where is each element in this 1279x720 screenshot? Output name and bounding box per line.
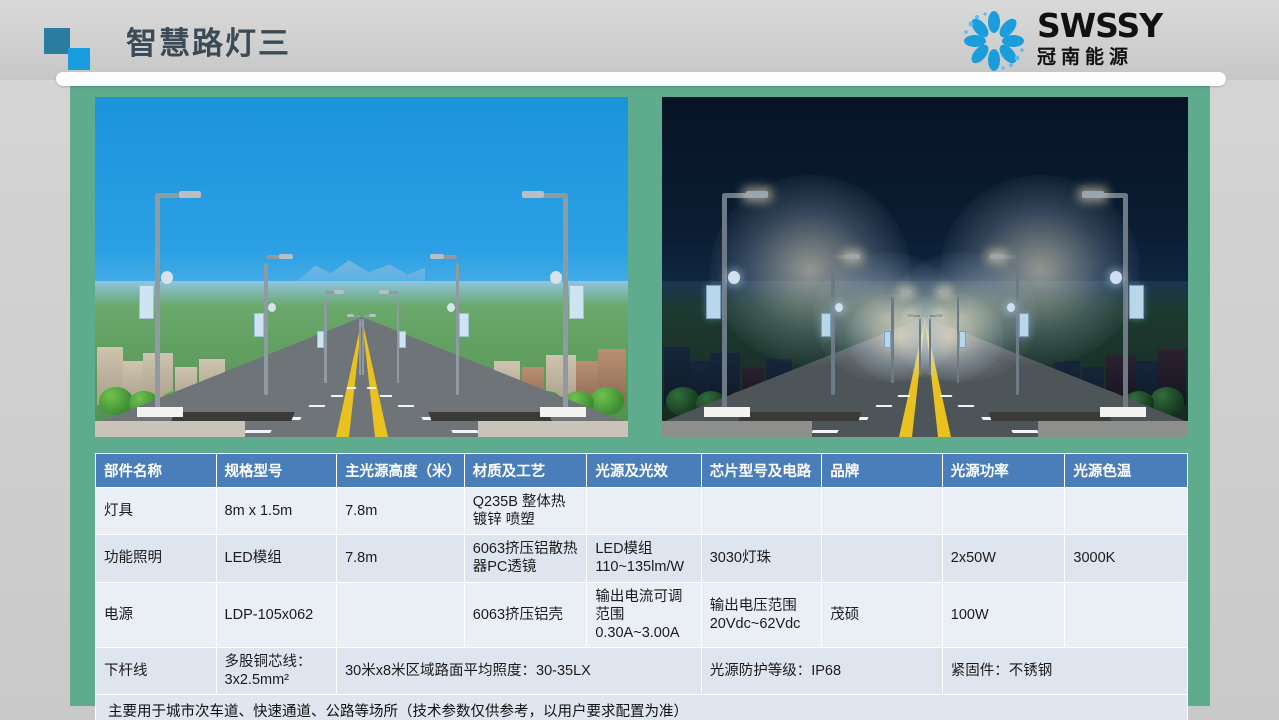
cell-illuminance-merged: 30米x8米区域路面平均照度：30-35LX: [337, 647, 702, 694]
cell-material: Q235B 整体热镀锌 喷塑: [464, 488, 587, 535]
cell-power: [942, 488, 1065, 535]
spec-table-container: 部件名称 规格型号 主光源高度（米） 材质及工艺 光源及光效 芯片型号及电路 品…: [95, 453, 1188, 687]
cell-source-efficacy: [587, 488, 701, 535]
column-header-power: 光源功率: [942, 454, 1065, 488]
column-header-chip-circuit: 芯片型号及电路: [701, 454, 822, 488]
table-row: 功能照明 LED模组 7.8m 6063挤压铝散热器PC透镜 LED模组 110…: [96, 535, 1188, 582]
cell-light-height: [337, 582, 465, 647]
cell-power: 100W: [942, 582, 1065, 647]
cell-model: LDP-105x062: [216, 582, 337, 647]
cell-light-height: 7.8m: [337, 488, 465, 535]
table-note: 主要用于城市次车道、快速通道、公路等场所（技术参数仅供参考，以用户要求配置为准）: [96, 695, 1188, 720]
square-dark-icon: [44, 28, 70, 54]
cell-power: 2x50W: [942, 535, 1065, 582]
column-header-source-efficacy: 光源及光效: [587, 454, 701, 488]
cell-component-name: 下杆线: [96, 647, 217, 694]
page-title: 智慧路灯三: [126, 24, 291, 64]
spec-table: 部件名称 规格型号 主光源高度（米） 材质及工艺 光源及光效 芯片型号及电路 品…: [95, 453, 1188, 720]
table-row: 灯具 8m x 1.5m 7.8m Q235B 整体热镀锌 喷塑: [96, 488, 1188, 535]
cell-light-height: 7.8m: [337, 535, 465, 582]
column-header-model: 规格型号: [216, 454, 337, 488]
cell-ip-rating-merged: 光源防护等级：IP68: [701, 647, 942, 694]
table-row: 电源 LDP-105x062 6063挤压铝壳 输出电流可调范围0.30A~3.…: [96, 582, 1188, 647]
cell-source-efficacy: 输出电流可调范围0.30A~3.00A: [587, 582, 701, 647]
cell-color-temp: [1065, 488, 1188, 535]
cell-source-efficacy: LED模组 110~135lm/W: [587, 535, 701, 582]
content-panel: 部件名称 规格型号 主光源高度（米） 材质及工艺 光源及光效 芯片型号及电路 品…: [70, 80, 1210, 706]
table-header-row: 部件名称 规格型号 主光源高度（米） 材质及工艺 光源及光效 芯片型号及电路 品…: [96, 454, 1188, 488]
column-header-material: 材质及工艺: [464, 454, 587, 488]
square-light-icon: [68, 48, 90, 70]
cell-model: 8m x 1.5m: [216, 488, 337, 535]
column-header-color-temp: 光源色温: [1065, 454, 1188, 488]
daytime-streetlight-image: [95, 97, 628, 437]
cell-chip-circuit: 输出电压范围20Vdc~62Vdc: [701, 582, 822, 647]
cell-component-name: 灯具: [96, 488, 217, 535]
table-row: 下杆线 多股铜芯线：3x2.5mm² 30米x8米区域路面平均照度：30-35L…: [96, 647, 1188, 694]
column-header-brand: 品牌: [822, 454, 943, 488]
cell-model: 多股铜芯线：3x2.5mm²: [216, 647, 337, 694]
cell-brand: 茂硕: [822, 582, 943, 647]
cell-brand: [822, 488, 943, 535]
water-droplet-flower-icon: [961, 10, 1027, 72]
logo-sub-text: 冠南能源: [1037, 46, 1162, 70]
cell-component-name: 功能照明: [96, 535, 217, 582]
cell-fastener-merged: 紧固件：不锈钢: [942, 647, 1187, 694]
table-note-row: 主要用于城市次车道、快速通道、公路等场所（技术参数仅供参考，以用户要求配置为准）: [96, 695, 1188, 720]
cell-chip-circuit: 3030灯珠: [701, 535, 822, 582]
cell-brand: [822, 535, 943, 582]
cell-component-name: 电源: [96, 582, 217, 647]
header-divider-bar: [56, 72, 1226, 86]
page-header: 智慧路灯三: [0, 0, 1279, 80]
logo-brand-text: SWSSY: [1037, 8, 1162, 44]
cell-material: 6063挤压铝壳: [464, 582, 587, 647]
company-logo: SWSSY 冠南能源: [961, 6, 1221, 76]
column-header-light-height: 主光源高度（米）: [337, 454, 465, 488]
cell-chip-circuit: [701, 488, 822, 535]
nighttime-streetlight-image: [662, 97, 1188, 437]
cell-color-temp: 3000K: [1065, 535, 1188, 582]
decorative-squares: [44, 28, 104, 68]
cell-color-temp: [1065, 582, 1188, 647]
column-header-component-name: 部件名称: [96, 454, 217, 488]
cell-model: LED模组: [216, 535, 337, 582]
cell-material: 6063挤压铝散热器PC透镜: [464, 535, 587, 582]
